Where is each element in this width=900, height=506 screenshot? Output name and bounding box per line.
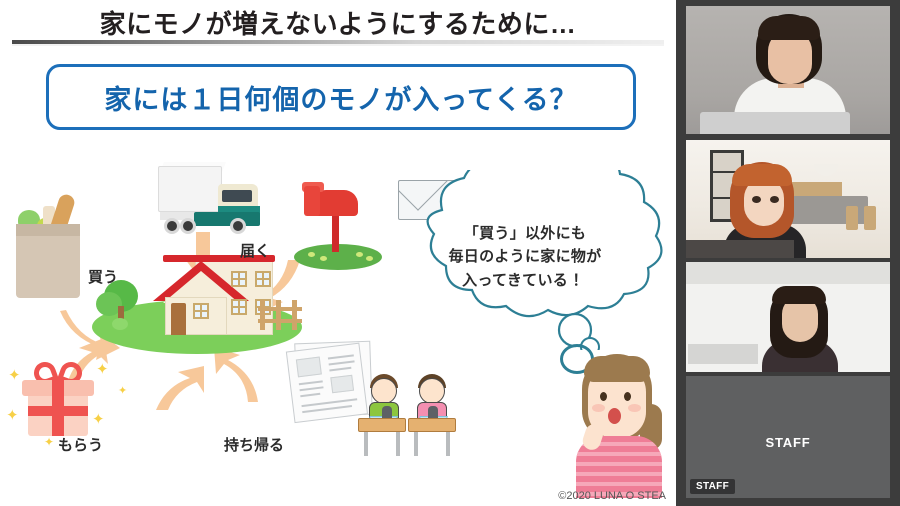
bubble-line-3: 入ってきている ！ <box>412 269 638 292</box>
gift-box-icon <box>18 358 98 436</box>
shared-slide: 家にモノが増えないようにするために… 家には１日何個のモノが入ってくる？ <box>0 0 676 506</box>
participant-tile-3[interactable] <box>686 262 890 372</box>
copyright-notice: ©2020 LUNA O STEA <box>558 490 666 502</box>
video-feed-3 <box>686 262 890 372</box>
page-title: 家にモノが増えないようにするために… <box>0 4 676 41</box>
sparkle-icon: ✦ <box>44 436 54 448</box>
bubble-line-2: 毎日のように家に物が <box>412 245 638 268</box>
bush-icon <box>112 318 128 330</box>
video-feed-2 <box>686 140 890 258</box>
question-text: 家には１日何個のモノが入ってくる？ <box>104 78 577 117</box>
sparkle-icon: ✦ <box>6 408 19 423</box>
thought-bubble-text: 「買う」以外にも 毎日のように家に物が 入ってきている ！ <box>412 222 638 292</box>
participant-placeholder-name: STAFF <box>686 435 890 450</box>
participant-tile-1[interactable] <box>686 6 890 134</box>
question-box: 家には１日何個のモノが入ってくる？ <box>46 64 636 130</box>
participant-name-badge: STAFF <box>690 479 735 494</box>
participant-video-strip: STAFF STAFF <box>676 0 900 506</box>
thought-bubble: 「買う」以外にも 毎日のように家に物が 入ってきている ！ <box>382 170 668 350</box>
label-buy: 買う <box>88 266 118 287</box>
participant-tile-4[interactable]: STAFF STAFF <box>686 376 890 498</box>
sparkle-icon: ✦ <box>118 386 127 397</box>
cycle-diagram: ✦ ✦ ✦ ✦ ✦ ✦ <box>0 140 676 506</box>
bubble-line-1: 「買う」以外にも <box>412 222 638 245</box>
fence-icon <box>258 300 304 330</box>
mailbox-icon <box>290 170 382 270</box>
house-door <box>171 303 186 335</box>
label-deliver: 届く <box>240 240 270 261</box>
delivery-truck-icon <box>158 162 262 236</box>
label-bring-home: 持ち帰る <box>224 434 284 455</box>
title-divider-secondary <box>12 44 664 46</box>
thinking-woman-illustration <box>566 348 670 498</box>
screen-share-meeting-view: 家にモノが増えないようにするために… 家には１日何個のモノが入ってくる？ <box>0 0 900 506</box>
video-feed-1 <box>686 6 890 134</box>
students-desks-icon <box>356 372 464 458</box>
grocery-bag-icon <box>10 190 86 298</box>
slide-title-area: 家にモノが増えないようにするために… <box>0 0 676 44</box>
label-receive: もらう <box>58 434 103 455</box>
participant-tile-2[interactable] <box>686 140 890 258</box>
